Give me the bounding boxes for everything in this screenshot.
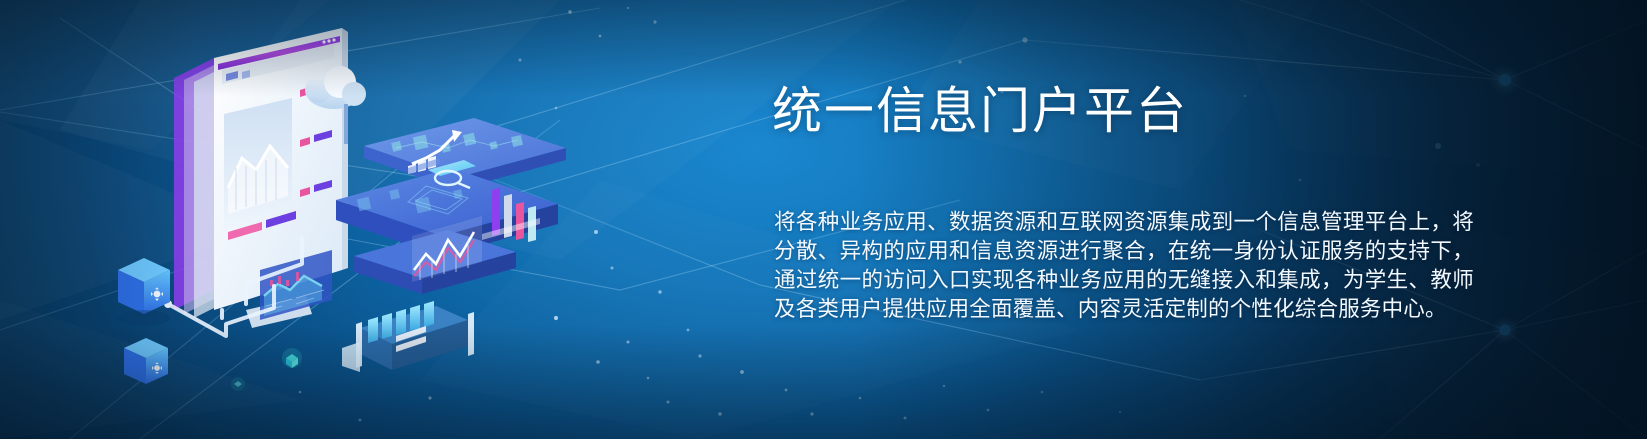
settings-cube-icon-2 (124, 338, 168, 384)
hero-banner: 统一信息门户平台 将各种业务应用、数据资源和互联网资源集成到一个信息管理平台上，… (0, 0, 1647, 439)
server-rack (342, 301, 474, 372)
glow-cluster-2 (231, 377, 245, 391)
page-title: 统一信息门户平台 (772, 86, 1188, 136)
glow-cluster (282, 348, 302, 368)
isometric-data-platform-illustration (96, 18, 566, 418)
banner-description-text: 将各种业务应用、数据资源和互联网资源集成到一个信息管理平台上，将分散、异构的应用… (774, 208, 1474, 324)
settings-cube-icon (118, 258, 170, 326)
banner-content: 统一信息门户平台 将各种业务应用、数据资源和互联网资源集成到一个信息管理平台上，… (772, 0, 1512, 439)
banner-description: 将各种业务应用、数据资源和互联网资源集成到一个信息管理平台上，将分散、异构的应用… (774, 208, 1474, 324)
